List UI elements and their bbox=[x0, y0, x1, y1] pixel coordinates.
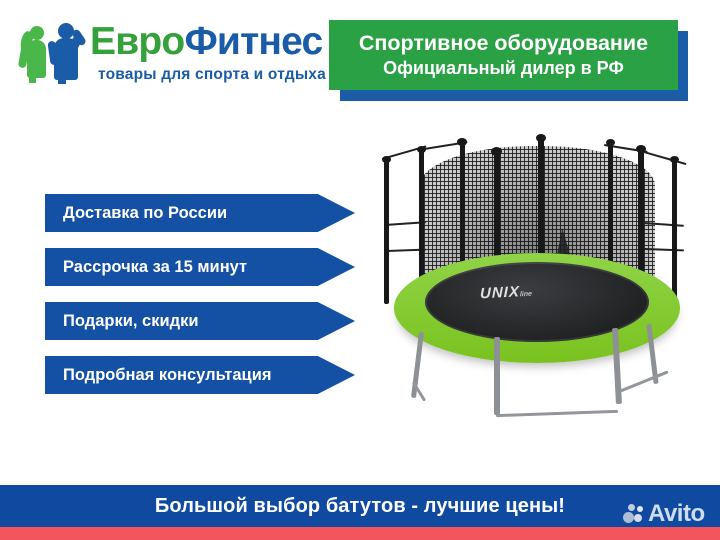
product-brand-sub: line bbox=[520, 291, 532, 299]
frame-base-bar bbox=[496, 410, 618, 417]
bottom-banner-text-wrap: Большой выбор батутов - лучшие цены! bbox=[0, 485, 720, 527]
feature-badge-consultation[interactable]: Подробная консультация bbox=[45, 356, 355, 394]
male-leg-shape bbox=[58, 70, 66, 84]
net-pole-cap bbox=[417, 146, 426, 153]
product-brand-name: UNIX bbox=[480, 283, 520, 302]
female-leg-shape bbox=[29, 67, 36, 83]
athlete-figures-icon bbox=[18, 20, 86, 82]
feature-badge-gifts[interactable]: Подарки, скидки bbox=[45, 302, 355, 340]
brand-logo: ЕвроФитнес товары для спорта и отдыха bbox=[18, 18, 328, 86]
feature-badge-delivery[interactable]: Доставка по России bbox=[45, 194, 355, 232]
avito-watermark: Avito bbox=[622, 498, 718, 530]
feature-badge-label: Рассрочка за 15 минут bbox=[63, 258, 247, 277]
net-pole bbox=[672, 158, 677, 303]
avito-dot bbox=[628, 504, 635, 511]
brand-name-part-1: Евро bbox=[90, 20, 184, 63]
frame-base-bar bbox=[619, 370, 668, 392]
avito-dots-icon bbox=[622, 503, 646, 525]
feature-badge-label: Доставка по России bbox=[63, 204, 227, 223]
feature-badge-installment[interactable]: Рассрочка за 15 минут bbox=[45, 248, 355, 286]
net-pole-cap bbox=[636, 145, 646, 153]
header-banner: Спортивное оборудование Официальный диле… bbox=[329, 20, 678, 90]
net-top-rail bbox=[644, 151, 687, 165]
avito-dot bbox=[634, 514, 642, 522]
avito-dot bbox=[637, 506, 643, 512]
product-image-trampoline: UNIXline bbox=[372, 132, 702, 462]
avito-dot bbox=[623, 512, 634, 523]
feature-badge-label: Подробная консультация bbox=[63, 366, 271, 385]
net-pole bbox=[384, 158, 389, 304]
ad-banner-canvas: ЕвроФитнес товары для спорта и отдыха Сп… bbox=[0, 0, 720, 540]
net-pole-cap bbox=[670, 156, 679, 163]
female-head-shape bbox=[30, 26, 44, 40]
net-pole-cap bbox=[606, 139, 615, 146]
frame-leg bbox=[494, 337, 500, 415]
product-brand-logo: UNIXline bbox=[480, 283, 532, 303]
net-pole bbox=[608, 142, 613, 267]
avito-wordmark: Avito bbox=[648, 502, 705, 526]
header-banner-line-2: Официальный дилер в РФ bbox=[383, 56, 624, 80]
feature-badge-label: Подарки, скидки bbox=[63, 312, 198, 331]
net-pole bbox=[538, 137, 544, 267]
brand-name-part-2: Фитнес bbox=[184, 20, 322, 63]
brand-name: ЕвроФитнес bbox=[90, 20, 322, 64]
net-pole-cap bbox=[536, 134, 546, 142]
bottom-banner-text: Большой выбор батутов - лучшие цены! bbox=[155, 495, 565, 518]
net-pole bbox=[460, 141, 465, 263]
brand-tagline: товары для спорта и отдыха bbox=[98, 66, 326, 84]
male-head-shape bbox=[58, 23, 74, 39]
net-pole-cap bbox=[382, 156, 391, 163]
header-banner-line-1: Спортивное оборудование bbox=[359, 30, 648, 56]
bottom-accent-strip bbox=[0, 527, 720, 540]
net-pole-cap bbox=[491, 147, 502, 156]
net-pole-cap bbox=[457, 138, 467, 146]
